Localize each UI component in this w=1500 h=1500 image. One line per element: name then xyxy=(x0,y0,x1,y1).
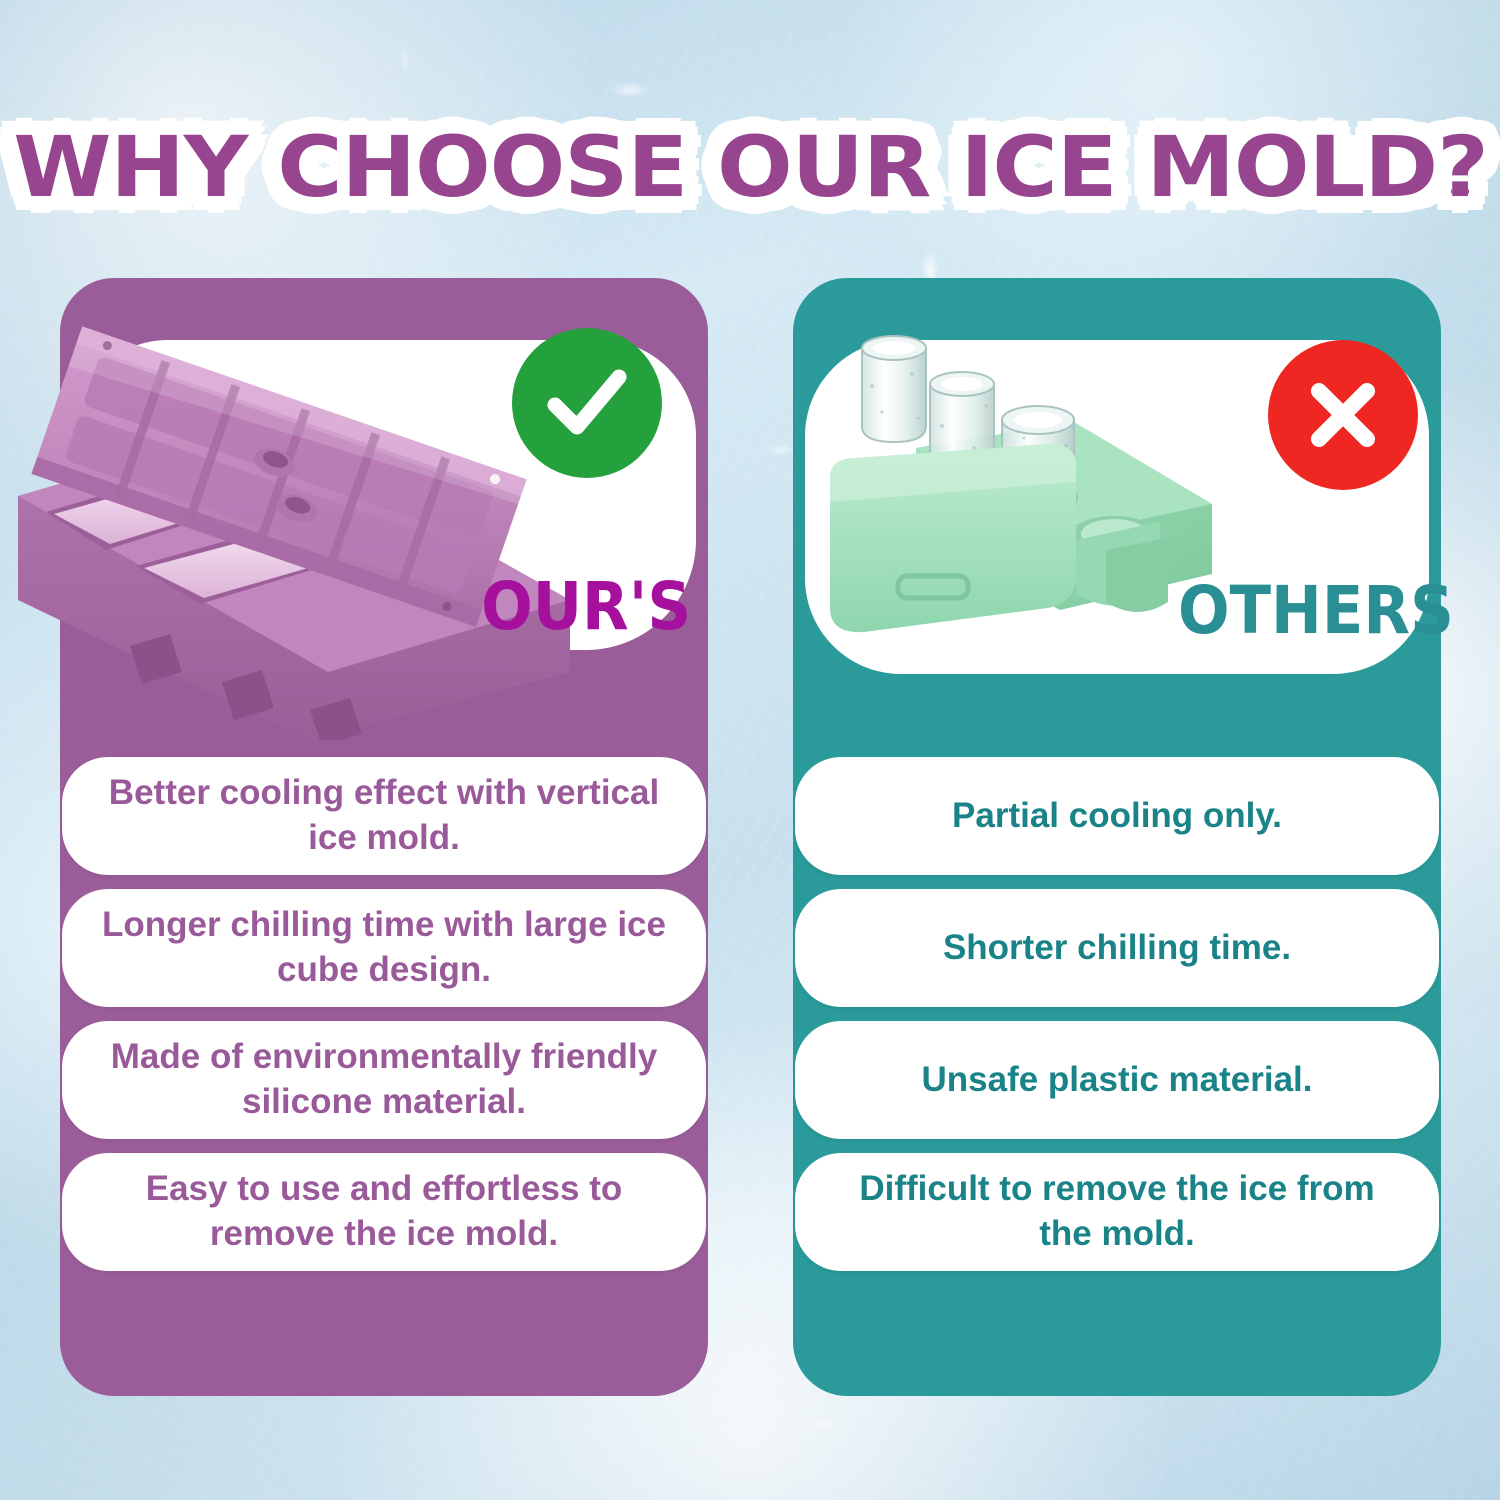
feature-text: Made of environmentally friendly silicon… xyxy=(96,1035,672,1125)
feature-text: Longer chilling time with large ice cube… xyxy=(96,903,672,993)
list-item: Made of environmentally friendly silicon… xyxy=(62,1021,706,1139)
cross-icon xyxy=(1268,340,1418,490)
list-item: Unsafe plastic material. xyxy=(795,1021,1439,1139)
cross-glyph xyxy=(1297,369,1389,461)
checkmark-icon xyxy=(512,328,662,478)
feature-text: Partial cooling only. xyxy=(952,794,1282,839)
list-item: Shorter chilling time. xyxy=(795,889,1439,1007)
list-item: Easy to use and effortless to remove the… xyxy=(62,1153,706,1271)
feature-text: Unsafe plastic material. xyxy=(922,1058,1313,1103)
column-label-others: OTHERS xyxy=(1178,572,1454,649)
feature-list-ours: Better cooling effect with vertical ice … xyxy=(62,757,706,1285)
list-item: Longer chilling time with large ice cube… xyxy=(62,889,706,1007)
feature-text: Easy to use and effortless to remove the… xyxy=(96,1167,672,1257)
feature-text: Shorter chilling time. xyxy=(943,926,1291,971)
feature-list-others: Partial cooling only. Shorter chilling t… xyxy=(795,757,1439,1285)
mold-lid xyxy=(830,444,1076,632)
feature-text: Better cooling effect with vertical ice … xyxy=(96,771,672,861)
list-item: Difficult to remove the ice from the mol… xyxy=(795,1153,1439,1271)
feature-text: Difficult to remove the ice from the mol… xyxy=(829,1167,1405,1257)
headline-container: WHY CHOOSE OUR ICE MOLD? xyxy=(0,118,1500,216)
product-image-ours xyxy=(10,300,610,740)
checkmark-glyph xyxy=(539,355,635,451)
page-title: WHY CHOOSE OUR ICE MOLD? xyxy=(13,118,1487,216)
column-label-ours: OUR'S xyxy=(481,568,691,645)
list-item: Partial cooling only. xyxy=(795,757,1439,875)
list-item: Better cooling effect with vertical ice … xyxy=(62,757,706,875)
